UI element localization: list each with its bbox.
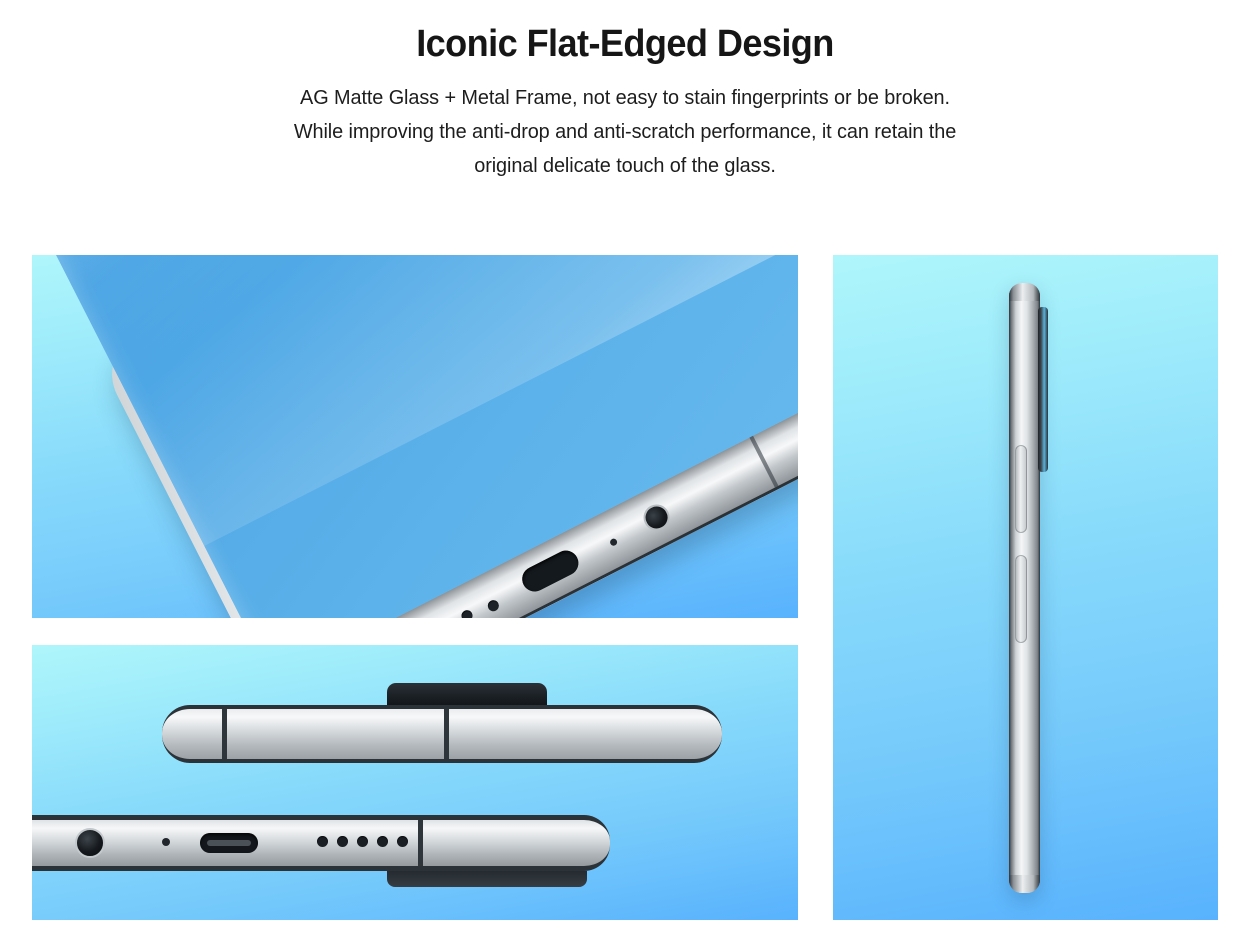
- page-description: AG Matte Glass + Metal Frame, not easy t…: [0, 81, 1250, 183]
- headphone-jack: [75, 828, 105, 858]
- page-header: Iconic Flat-Edged Design AG Matte Glass …: [0, 0, 1250, 183]
- camera-bump: [387, 683, 547, 705]
- phone-bottom-cap: [1009, 875, 1040, 893]
- phone-body: BEYOND UMIDIGI: [96, 255, 798, 618]
- speaker-hole: [460, 608, 475, 618]
- speaker-hole: [337, 836, 348, 847]
- rear-camera-strip: [387, 871, 587, 887]
- description-line-3: original delicate touch of the glass.: [19, 149, 1232, 183]
- headphone-jack: [639, 500, 674, 535]
- antenna-seam-left: [222, 709, 227, 759]
- product-image-phone-side-profile: [833, 255, 1218, 920]
- speaker-hole: [397, 836, 408, 847]
- phone-screen: BEYOND UMIDIGI: [32, 255, 798, 618]
- usb-c-port: [200, 833, 258, 853]
- volume-up-button[interactable]: [1015, 445, 1027, 533]
- camera-bump: [1038, 307, 1048, 472]
- phone-edge-upper: [162, 705, 722, 763]
- microphone-hole: [162, 838, 170, 846]
- product-image-phone-bottom-edges: [32, 645, 798, 920]
- microphone-hole: [609, 537, 618, 546]
- product-image-gallery: BEYOND UMIDIGI: [0, 255, 1250, 921]
- usb-c-port: [518, 546, 583, 596]
- speaker-hole: [377, 836, 388, 847]
- phone-corner-illustration: BEYOND UMIDIGI: [96, 255, 798, 618]
- speaker-hole: [317, 836, 328, 847]
- antenna-seam-right: [444, 709, 449, 759]
- description-line-2: While improving the anti-drop and anti-s…: [19, 115, 1232, 149]
- phone-edge-lower: [32, 815, 610, 871]
- phone-top-cap: [1009, 283, 1040, 301]
- speaker-hole: [486, 598, 501, 613]
- speaker-hole: [357, 836, 368, 847]
- description-line-1: AG Matte Glass + Metal Frame, not easy t…: [19, 81, 1232, 115]
- antenna-seam-right: [749, 436, 778, 488]
- antenna-seam: [418, 820, 423, 866]
- page-title: Iconic Flat-Edged Design: [31, 24, 1219, 65]
- volume-down-button[interactable]: [1015, 555, 1027, 643]
- product-image-phone-corner: BEYOND UMIDIGI: [32, 255, 798, 618]
